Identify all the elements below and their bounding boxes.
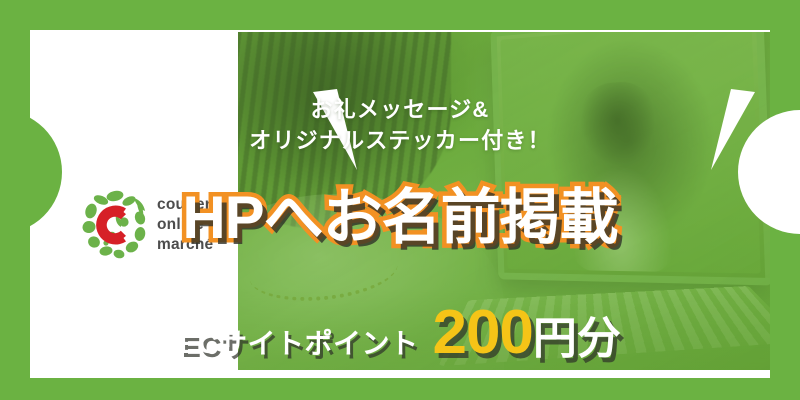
promo-subheading: お礼メッセージ& オリジナルステッカー付き！ [30,94,770,156]
promo-point-label: ECサイトポイント [179,328,418,359]
promo-point-line: ECサイトポイント200円分 [30,302,770,364]
promo-subheading-line-1: お礼メッセージ& [30,94,770,125]
ticket-banner: お礼メッセージ& オリジナルステッカー付き！ HPへお名前掲載 ECサイトポイン… [0,0,800,400]
ticket-card: お礼メッセージ& オリジナルステッカー付き！ HPへお名前掲載 ECサイトポイン… [30,30,770,378]
promo-copy: お礼メッセージ& オリジナルステッカー付き！ HPへお名前掲載 ECサイトポイン… [30,30,770,378]
promo-subheading-line-2: オリジナルステッカー付き！ [30,125,770,156]
promo-point-unit: 円分 [533,314,621,363]
promo-point-amount: 200 [432,298,532,367]
promo-headline: HPへお名前掲載 [30,188,770,248]
